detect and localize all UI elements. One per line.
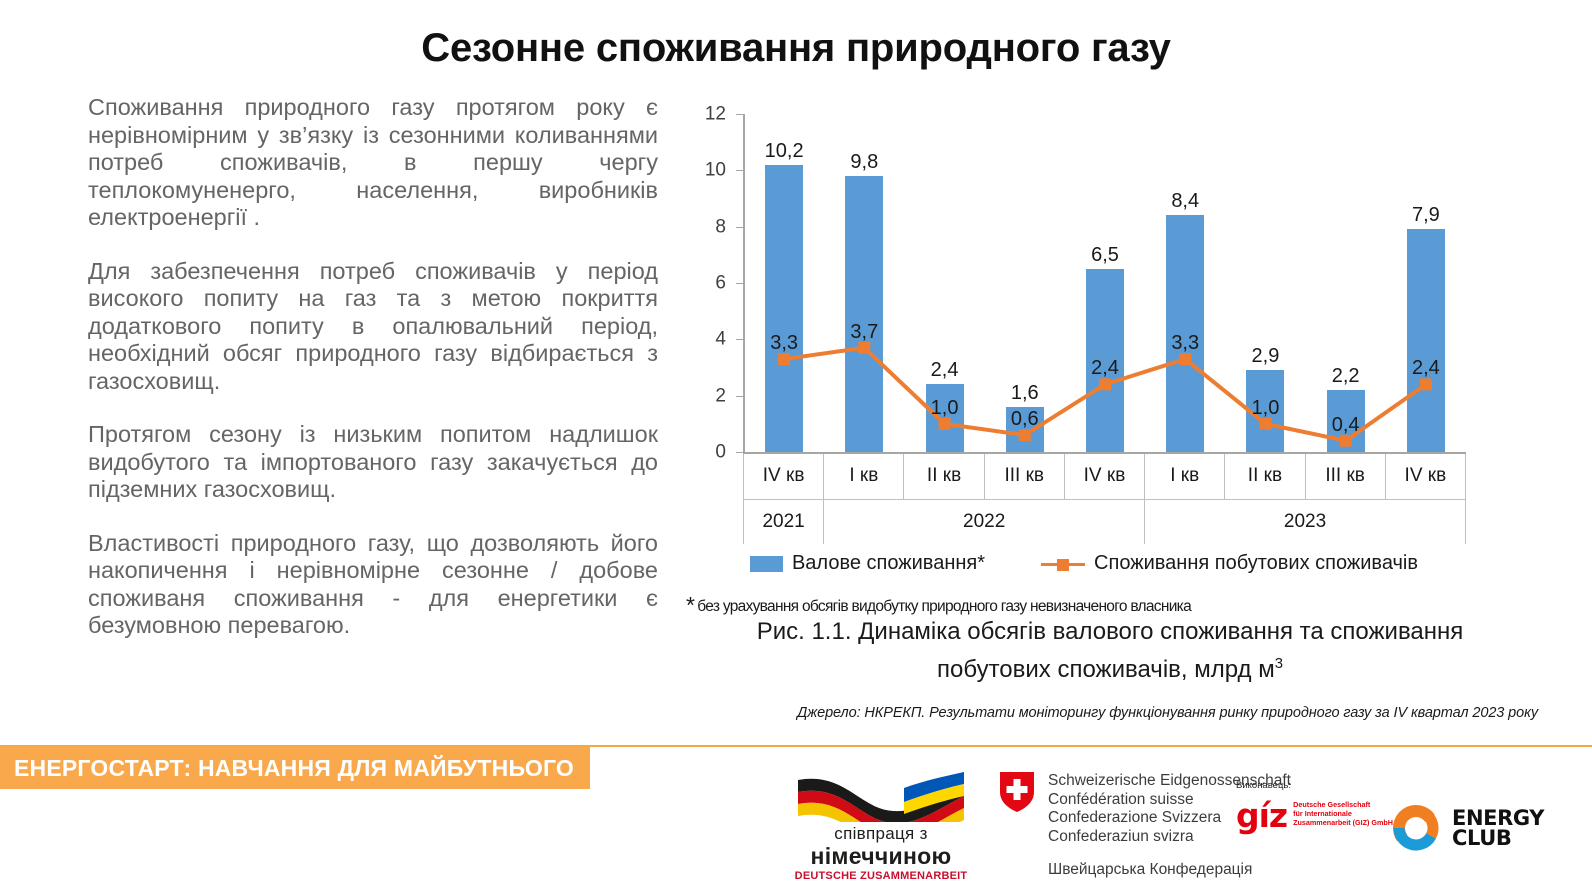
x-axis-quarter-cell: IV кв [1385, 454, 1465, 499]
y-tick-mark [736, 396, 743, 397]
x-axis-quarter-cell: II кв [904, 454, 984, 499]
paragraph-2: Для забезпечення потреб споживачів у пер… [88, 258, 658, 396]
giz-sub-line-1: Deutsche Gesellschaft [1293, 800, 1393, 809]
y-tick-label: 12 [705, 105, 726, 124]
chart-point-label: 2,4 [1074, 358, 1136, 378]
chart-point-label: 1,0 [914, 398, 976, 418]
x-axis-year-cell: 2022 [824, 499, 1145, 544]
y-tick-mark [736, 339, 743, 340]
y-tick-label: 0 [715, 443, 726, 462]
chart-line-marker [1340, 435, 1352, 447]
chart-footnote: *без урахування обсягів видобутку природ… [686, 592, 1546, 619]
german-cooperation-logo: співпраця з німеччиною DEUTSCHE ZUSAMMEN… [786, 770, 976, 882]
x-axis-quarter-cell: IV кв [744, 454, 824, 499]
chart-point-label: 3,7 [833, 322, 895, 342]
chart-point-label: 0,6 [994, 409, 1056, 429]
text-column: Споживання природного газу протягом року… [88, 94, 658, 640]
legend-item-gross: Валове споживання* [750, 552, 985, 575]
figure-caption: Рис. 1.1. Динаміка обсягів валового спож… [700, 616, 1520, 686]
giz-logo: Виконавець: gíz Deutsche Gesellschaft fü… [1236, 780, 1393, 829]
x-axis-quarter-cell: I кв [824, 454, 904, 499]
giz-sub-line-2: für Internationale [1293, 809, 1393, 818]
chart-line-marker [1099, 378, 1111, 390]
y-tick-mark [736, 452, 743, 453]
y-tick-mark [736, 170, 743, 171]
x-axis-year-cell: 2021 [744, 499, 824, 544]
y-tick-label: 6 [715, 274, 726, 293]
y-tick-label: 8 [715, 217, 726, 236]
german-logo-line-1: співпраця з [786, 824, 976, 844]
paragraph-4: Властивості природного газу, що дозволяю… [88, 530, 658, 640]
energy-club-line-1: ENERGY [1452, 808, 1544, 828]
swiss-line-ua: Швейцарська Конфедерація [1048, 861, 1291, 879]
paragraph-3: Протягом сезону із низьким попитом надли… [88, 421, 658, 504]
chart-line-marker [778, 353, 790, 365]
x-axis-quarter-cell: I кв [1145, 454, 1225, 499]
giz-executor-label: Виконавець: [1236, 780, 1393, 791]
caption-line-1: Рис. 1.1. Динаміка обсягів валового спож… [757, 618, 1464, 645]
german-ukraine-flag-wave-icon [786, 770, 976, 822]
x-axis-quarter-cell: II кв [1225, 454, 1305, 499]
y-tick-mark [736, 114, 743, 115]
energy-club-line-2: CLUB [1452, 828, 1544, 848]
caption-superscript: 3 [1275, 656, 1283, 672]
chart-plot-area: 10,29,82,41,66,58,42,92,27,9 3,33,71,00,… [744, 114, 1466, 452]
chart-point-label: 2,4 [1395, 358, 1457, 378]
caption-line-2: побутових споживачів, млрд м [937, 656, 1275, 683]
y-tick-label: 10 [705, 161, 726, 180]
chart-point-label: 0,4 [1315, 415, 1377, 435]
page-title: Сезонне споживання природного газу [0, 26, 1592, 71]
legend-label-gross: Валове споживання* [792, 552, 985, 575]
chart-point-label: 3,3 [753, 333, 815, 353]
y-tick-label: 4 [715, 330, 726, 349]
logo-strip: співпраця з німеччиною DEUTSCHE ZUSAMMEN… [0, 752, 1592, 888]
giz-wordmark: gíz [1236, 803, 1287, 829]
y-tick-mark [736, 227, 743, 228]
legend-item-household: Споживання побутових споживачів [1041, 552, 1418, 575]
footnote-text: без урахування обсягів видобутку природн… [697, 598, 1191, 615]
energy-club-logo: ENERGY CLUB [1390, 802, 1544, 854]
chart-line-marker [1019, 429, 1031, 441]
x-axis-quarter-cell: IV кв [1064, 454, 1144, 499]
y-tick-mark [736, 283, 743, 284]
x-axis-quarter-cell: III кв [984, 454, 1064, 499]
chart-line-marker [939, 418, 951, 430]
chart-point-label: 3,3 [1154, 333, 1216, 353]
chart-line-marker [858, 342, 870, 354]
chart-y-axis-labels: 024681012 [684, 114, 736, 452]
footnote-star: * [686, 592, 694, 618]
energy-club-ring-icon [1390, 802, 1442, 854]
chart-line-marker [1420, 378, 1432, 390]
slide-root: Сезонне споживання природного газу Спожи… [0, 0, 1592, 888]
giz-sub-line-3: Zusammenarbeit (GIZ) GmbH [1293, 818, 1393, 827]
chart-legend: Валове споживання* Споживання побутових … [684, 552, 1484, 575]
x-axis-year-cell: 2023 [1145, 499, 1466, 544]
y-tick-label: 2 [715, 386, 726, 405]
chart-point-label: 1,0 [1234, 398, 1296, 418]
source-note: Джерело: НКРЕКП. Результати моніторингу … [698, 705, 1538, 721]
german-logo-line-3: DEUTSCHE ZUSAMMENARBEIT [786, 870, 976, 882]
chart-line-marker [1259, 418, 1271, 430]
legend-label-household: Споживання побутових споживачів [1094, 552, 1418, 575]
x-axis-quarter-cell: III кв [1305, 454, 1385, 499]
german-logo-line-2: німеччиною [786, 844, 976, 868]
line-swatch-icon [1041, 556, 1085, 572]
paragraph-1: Споживання природного газу протягом року… [88, 94, 658, 232]
chart-x-axis-table: IV квI квII квIII квIV квI квII квIII кв… [743, 454, 1466, 544]
chart-line-series [744, 114, 1466, 452]
chart-line-marker [1179, 353, 1191, 365]
bar-swatch-icon [750, 556, 783, 572]
swiss-shield-icon [1000, 772, 1034, 812]
